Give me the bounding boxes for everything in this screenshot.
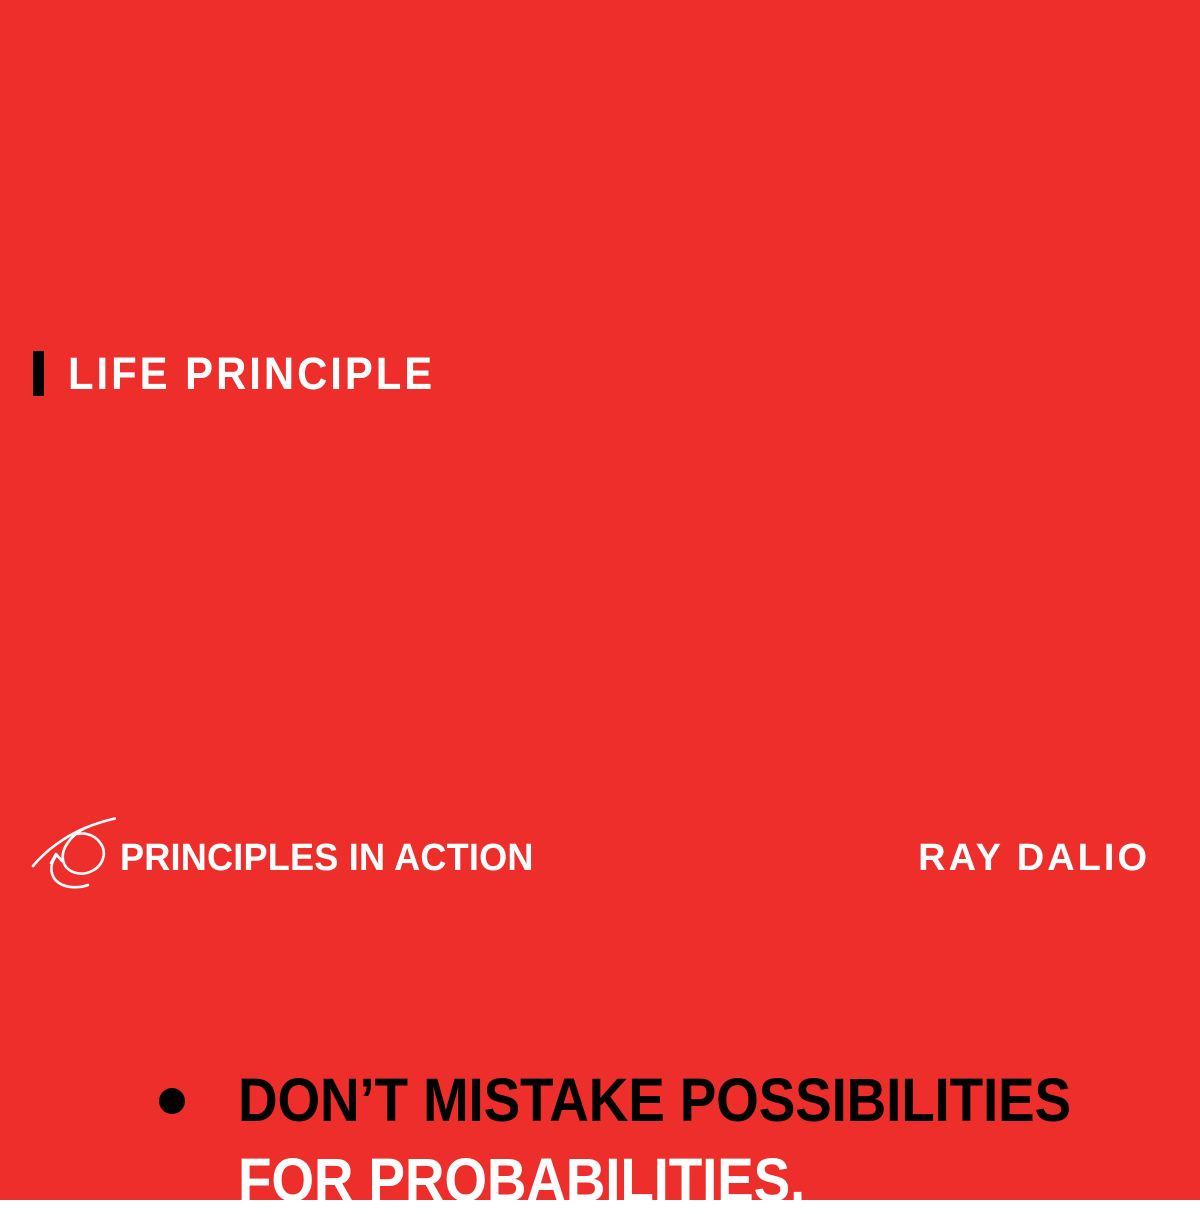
quote-line-1: DON’T MISTAKE POSSIBILITIES <box>238 1070 1071 1131</box>
footer: PRINCIPLES IN ACTION RAY DALIO <box>0 812 1200 902</box>
quote-card: LIFE PRINCIPLE DON’T MISTAKE POSSIBILITI… <box>0 0 1200 1200</box>
quote-line-2: FOR PROBABILITIES. <box>238 1150 805 1211</box>
quote-block: DON’T MISTAKE POSSIBILITIES FOR PROBABIL… <box>0 536 1200 686</box>
author-name: RAY DALIO <box>918 839 1150 877</box>
header: LIFE PRINCIPLE <box>33 345 463 401</box>
bullet-dot-icon <box>159 1088 185 1114</box>
looping-arrow-spiral-icon <box>30 816 116 896</box>
page-title: LIFE PRINCIPLE <box>68 351 435 396</box>
author-block: RAY DALIO <box>918 812 1150 900</box>
brand-lockup: PRINCIPLES IN ACTION <box>30 812 555 900</box>
brand-name: PRINCIPLES IN ACTION <box>120 839 534 877</box>
header-accent-bar <box>33 351 44 396</box>
